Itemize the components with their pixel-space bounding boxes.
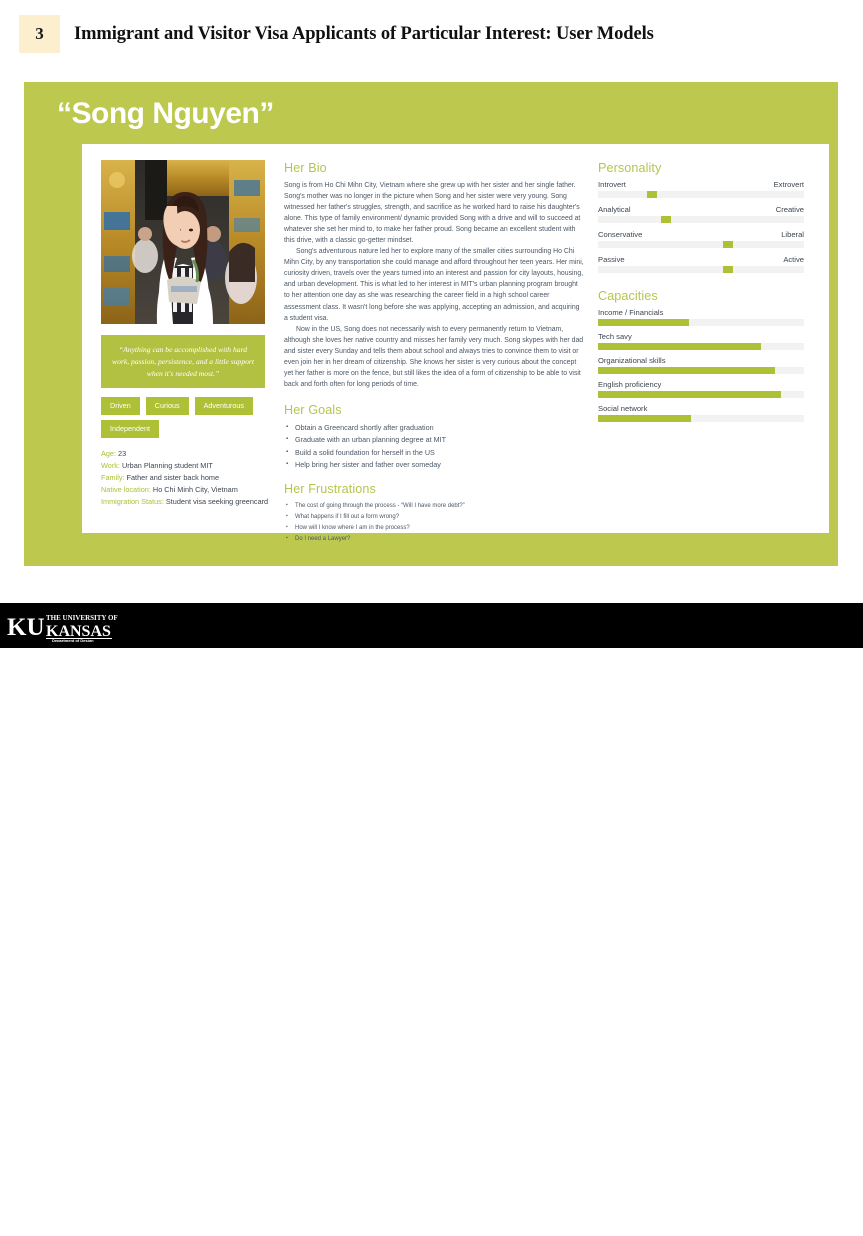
meter-right-label: Active: [783, 255, 804, 264]
personality-chart: Personality Introvert Extrovert Analytic…: [598, 161, 804, 273]
goals-block: Her Goals Obtain a Greencard shortly aft…: [284, 403, 584, 472]
capacity-track[interactable]: [598, 343, 804, 350]
slide-header: 3 Immigrant and Visitor Visa Applicants …: [0, 0, 863, 62]
ku-logo: KU THE UNIVERSITY OF KANSAS Department o…: [6, 609, 118, 642]
personality-meter-row: Introvert Extrovert: [598, 180, 804, 198]
personality-slider-track[interactable]: [598, 216, 804, 223]
bio-heading: Her Bio: [284, 161, 584, 175]
capacity-fill: [598, 415, 691, 422]
personality-slider-track[interactable]: [598, 191, 804, 198]
capacity-fill: [598, 343, 761, 350]
list-item: Obtain a Greencard shortly after graduat…: [295, 422, 584, 434]
fact-row: Family: Father and sister back home: [101, 472, 273, 484]
svg-text:THE UNIVERSITY OF: THE UNIVERSITY OF: [46, 614, 118, 622]
persona-card: “Anything can be accomplished with hard …: [82, 144, 829, 533]
list-item: Do I need a Lawyer?: [295, 534, 584, 545]
frustrations-heading: Her Frustrations: [284, 482, 584, 496]
page-title: Immigrant and Visitor Visa Applicants of…: [74, 24, 654, 45]
capacity-label: Income / Financials: [598, 308, 804, 317]
personality-slider-thumb[interactable]: [661, 216, 671, 223]
fact-value: 23: [118, 449, 126, 458]
capacity-label: Organizational skills: [598, 356, 804, 365]
list-item: Graduate with an urban planning degree a…: [295, 434, 584, 446]
capacity-row: Income / Financials: [598, 308, 804, 326]
persona-left-column: “Anything can be accomplished with hard …: [101, 160, 273, 507]
fact-label: Work:: [101, 461, 120, 470]
capacity-row: Tech savy: [598, 332, 804, 350]
capacities-heading: Capacities: [598, 289, 804, 303]
list-item: What happens if I fill out a form wrong?: [295, 512, 584, 523]
bio-block: Her Bio Song is from Ho Chi Mihn City, V…: [284, 161, 584, 390]
persona-middle-column: Her Bio Song is from Ho Chi Mihn City, V…: [284, 161, 584, 545]
meter-left-label: Introvert: [598, 180, 626, 189]
persona-tag[interactable]: Independent: [101, 420, 159, 438]
meter-right-label: Liberal: [781, 230, 804, 239]
personality-slider-thumb[interactable]: [723, 266, 733, 273]
capacity-fill: [598, 391, 781, 398]
frustrations-list: The cost of going through the process - …: [284, 501, 584, 544]
fact-label: Family:: [101, 473, 125, 482]
personality-meter-labels: Conservative Liberal: [598, 230, 804, 239]
persona-facts: Age: 23 Work: Urban Planning student MIT…: [101, 448, 273, 507]
meter-left-label: Analytical: [598, 205, 631, 214]
personality-slider-track[interactable]: [598, 266, 804, 273]
capacity-track[interactable]: [598, 415, 804, 422]
personality-slider-thumb[interactable]: [647, 191, 657, 198]
capacity-row: Social network: [598, 404, 804, 422]
personality-meter-labels: Analytical Creative: [598, 205, 804, 214]
capacity-label: English proficiency: [598, 380, 804, 389]
bio-paragraph: Song's adventurous nature led her to exp…: [284, 246, 584, 323]
capacity-track[interactable]: [598, 319, 804, 326]
fact-label: Native location:: [101, 485, 151, 494]
list-item: How will I know where I am in the proces…: [295, 523, 584, 534]
svg-text:KU: KU: [7, 614, 45, 641]
persona-tag[interactable]: Curious: [146, 397, 189, 415]
fact-row: Work: Urban Planning student MIT: [101, 460, 273, 472]
bio-paragraph: Now in the US, Song does not necessarily…: [284, 324, 584, 390]
goals-list: Obtain a Greencard shortly after graduat…: [284, 422, 584, 472]
persona-tags: Driven Curious Adventurous Independent: [101, 397, 271, 438]
capacities-chart: Capacities Income / Financials Tech savy…: [598, 289, 804, 422]
fact-value: Urban Planning student MIT: [122, 461, 213, 470]
capacity-row: English proficiency: [598, 380, 804, 398]
list-item: Help bring her sister and father over so…: [295, 459, 584, 471]
personality-heading: Personality: [598, 161, 804, 175]
fact-label: Age:: [101, 449, 116, 458]
fact-row: Immigration Status: Student visa seeking…: [101, 496, 273, 508]
fact-row: Age: 23: [101, 448, 273, 460]
capacity-fill: [598, 367, 775, 374]
meter-left-label: Conservative: [598, 230, 642, 239]
personality-meter-row: Analytical Creative: [598, 205, 804, 223]
slide-number-badge: 3: [19, 15, 60, 53]
list-item: The cost of going through the process - …: [295, 501, 584, 512]
goals-heading: Her Goals: [284, 403, 584, 417]
bio-paragraph: Song is from Ho Chi Mihn City, Vietnam w…: [284, 180, 584, 246]
capacity-label: Tech savy: [598, 332, 804, 341]
meter-right-label: Creative: [776, 205, 804, 214]
persona-photo: [101, 160, 265, 324]
persona-tag[interactable]: Driven: [101, 397, 140, 415]
capacity-row: Organizational skills: [598, 356, 804, 374]
fact-value: Father and sister back home: [127, 473, 219, 482]
frustrations-block: Her Frustrations The cost of going throu…: [284, 482, 584, 544]
persona-right-column: Personality Introvert Extrovert Analytic…: [598, 161, 804, 428]
list-item: Build a solid foundation for herself in …: [295, 447, 584, 459]
personality-meter-row: Conservative Liberal: [598, 230, 804, 248]
personality-slider-track[interactable]: [598, 241, 804, 248]
footer-bar: KU THE UNIVERSITY OF KANSAS Department o…: [0, 603, 863, 648]
capacity-track[interactable]: [598, 367, 804, 374]
personality-slider-thumb[interactable]: [723, 241, 733, 248]
persona-panel: “Song Nguyen”: [24, 82, 838, 566]
footer-project-title: Reimagined: The US Citizenship and Immig…: [502, 1221, 851, 1236]
personality-meter-labels: Introvert Extrovert: [598, 180, 804, 189]
bio-text: Song is from Ho Chi Mihn City, Vietnam w…: [284, 180, 584, 390]
meter-left-label: Passive: [598, 255, 625, 264]
persona-quote: “Anything can be accomplished with hard …: [101, 335, 265, 388]
capacity-fill: [598, 319, 689, 326]
fact-row: Native location: Ho Chi Minh City, Vietn…: [101, 484, 273, 496]
persona-tag[interactable]: Adventurous: [195, 397, 253, 415]
capacity-label: Social network: [598, 404, 804, 413]
fact-value: Ho Chi Minh City, Vietnam: [153, 485, 238, 494]
personality-meter-row: Passive Active: [598, 255, 804, 273]
svg-text:Department of Design: Department of Design: [52, 638, 94, 642]
capacity-track[interactable]: [598, 391, 804, 398]
fact-value: Student visa seeking greencard: [166, 497, 268, 506]
personality-meter-labels: Passive Active: [598, 255, 804, 264]
meter-right-label: Extrovert: [774, 180, 804, 189]
persona-name: “Song Nguyen”: [57, 97, 274, 131]
fact-label: Immigration Status:: [101, 497, 164, 506]
